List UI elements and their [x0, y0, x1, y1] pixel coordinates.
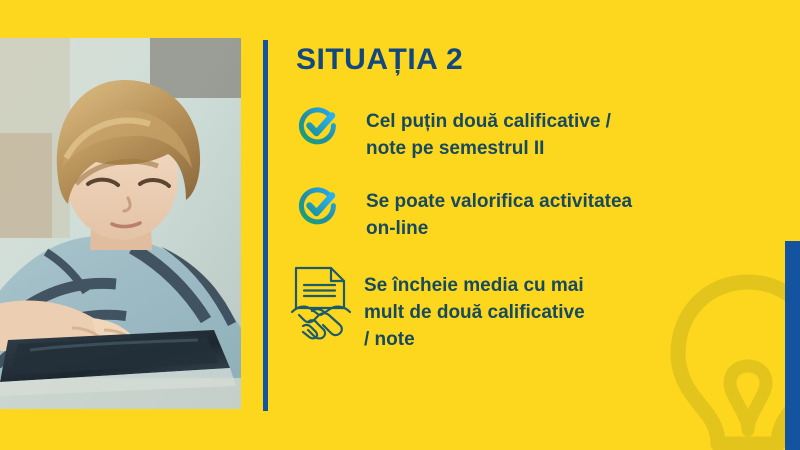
slide-canvas: SITUAȚIA 2 — [0, 0, 800, 450]
list-item: Se poate valorifica activitatea on-line — [296, 184, 756, 242]
list-item-label: Cel puțin două calificative / note pe se… — [366, 104, 611, 162]
content-column: SITUAȚIA 2 — [296, 42, 756, 375]
boy-with-tablet-photo — [0, 38, 241, 409]
document-handshake-icon — [290, 264, 352, 340]
vertical-divider — [263, 40, 268, 411]
list-item-label: Se încheie media cu mai mult de două cal… — [364, 264, 585, 353]
list-item-label: Se poate valorifica activitatea on-line — [366, 184, 632, 242]
check-circle-icon — [296, 184, 340, 228]
list-item: Cel puțin două calificative / note pe se… — [296, 104, 756, 162]
check-circle-icon — [296, 104, 340, 148]
page-title: SITUAȚIA 2 — [296, 42, 756, 78]
blue-accent-band — [785, 241, 800, 450]
list-item: Se încheie media cu mai mult de două cal… — [296, 264, 756, 353]
